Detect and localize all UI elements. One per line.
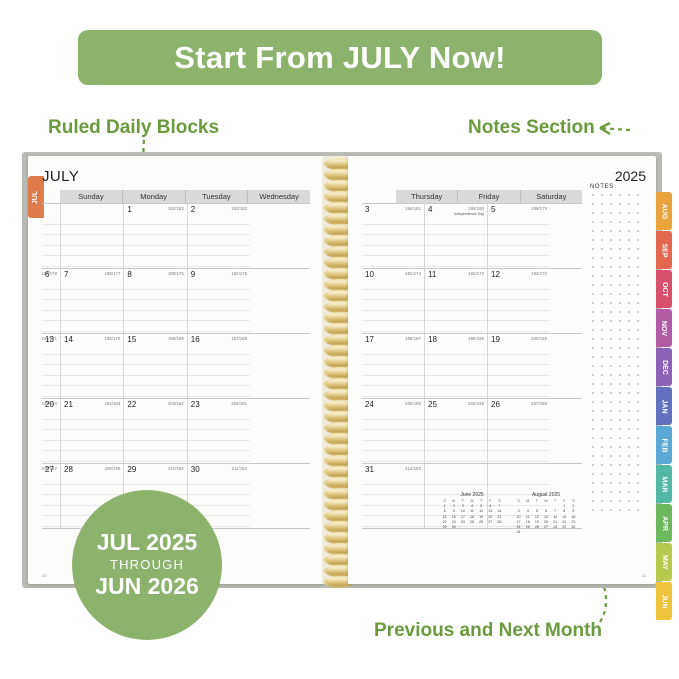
calendar-grid-right: 3184/1814185/180Independence Day5186/179… <box>362 203 582 529</box>
arrow-to-notes-icon <box>592 118 632 138</box>
day-number: 15 <box>127 335 136 344</box>
weekday-monday: Monday <box>123 190 186 203</box>
month-tab-label: MAY <box>660 555 667 570</box>
day-number: 31 <box>365 465 374 474</box>
julian-date: 203/162 <box>168 401 184 406</box>
calendar-week-row: 3184/1814185/180Independence Day5186/179 <box>362 203 582 269</box>
calendar-grid-left: 1182/1832183/1826187/1787188/1778189/176… <box>42 203 310 529</box>
day-number: 17 <box>365 335 374 344</box>
julian-date: 202/163 <box>105 401 121 406</box>
month-tab-label: JAN <box>660 399 667 413</box>
promo-banner-text: Start From JULY Now! <box>174 40 506 76</box>
calendar-day-cell[interactable]: 9190/175 <box>188 269 250 333</box>
left-page-header: JULY <box>42 168 314 188</box>
day-number: 22 <box>127 400 136 409</box>
day-number: 26 <box>491 400 500 409</box>
weekday-wednesday: Wednesday <box>248 190 310 203</box>
ruled-lines <box>42 214 60 268</box>
calendar-day-cell[interactable]: 7188/177 <box>61 269 124 333</box>
day-number: 21 <box>64 400 73 409</box>
ruled-lines <box>124 344 186 398</box>
weekday-saturday: Saturday <box>521 190 582 203</box>
mini-day[interactable] <box>486 524 495 529</box>
day-number: 12 <box>491 270 500 279</box>
day-number: 16 <box>191 335 200 344</box>
calendar-week-row: 6187/1787188/1778189/1769190/175 <box>42 269 310 334</box>
mini-day[interactable] <box>467 524 476 529</box>
weekday-sunday: Sunday <box>60 190 123 203</box>
ruled-lines <box>188 214 250 268</box>
calendar-day-cell[interactable]: 18199/166 <box>425 334 488 398</box>
julian-date: 196/169 <box>168 336 184 341</box>
calendar-day-cell[interactable]: 5186/179 <box>488 204 550 268</box>
weekday-header-left: SundayMondayTuesdayWednesday <box>60 190 310 203</box>
page-title: JULY <box>42 168 314 185</box>
mini-day[interactable] <box>560 529 569 534</box>
julian-date: 201/164 <box>42 401 57 406</box>
promo-banner: Start From JULY Now! <box>78 30 602 85</box>
ruled-lines <box>42 344 60 398</box>
badge-line-3: JUN 2026 <box>95 574 199 600</box>
day-number: 14 <box>64 335 73 344</box>
day-number: 3 <box>365 205 369 214</box>
month-tab-dec[interactable]: DEC <box>656 348 672 386</box>
month-tab-nov[interactable]: NOV <box>656 309 672 347</box>
badge-line-2: THROUGH <box>110 558 184 573</box>
month-tab-sep[interactable]: SEP <box>656 231 672 269</box>
day-number: 5 <box>491 205 495 214</box>
annotation-notes-section: Notes Section <box>468 117 595 139</box>
ruled-lines <box>42 409 60 463</box>
calendar-week-row: 17198/16718199/16619200/165 <box>362 334 582 399</box>
mini-day[interactable] <box>551 529 560 534</box>
date-range-badge: JUL 2025 THROUGH JUN 2026 <box>72 490 222 640</box>
ruled-lines <box>124 214 186 268</box>
month-tab-mar[interactable]: MAR <box>656 465 672 503</box>
ruled-lines <box>61 344 123 398</box>
calendar-day-cell[interactable]: 24205/160 <box>362 399 425 463</box>
ruled-lines <box>362 344 424 398</box>
page-number-right: 11 <box>642 573 646 578</box>
ruled-lines <box>488 344 550 398</box>
page-year: 2025 <box>615 168 646 184</box>
julian-date: 206/159 <box>468 401 484 406</box>
day-number: 4 <box>428 205 432 214</box>
julian-date: 194/171 <box>42 336 57 341</box>
notes-label: NOTES <box>590 184 642 190</box>
weekday-header-right: ThursdayFridaySaturday <box>396 190 582 203</box>
calendar-day-cell[interactable]: 3184/181 <box>362 204 425 268</box>
weekday-friday: Friday <box>458 190 520 203</box>
julian-date: 204/161 <box>231 401 247 406</box>
day-number: 29 <box>127 465 136 474</box>
month-tab-apr[interactable]: APR <box>656 504 672 542</box>
calendar-day-cell[interactable]: 17198/167 <box>362 334 425 398</box>
calendar-week-row: 20201/16421202/16322203/16223204/161 <box>42 399 310 464</box>
ruled-lines <box>488 409 550 463</box>
month-tab-label: FEB <box>661 438 668 452</box>
ruled-lines <box>61 409 123 463</box>
julian-date: 195/170 <box>105 336 121 341</box>
day-number: 24 <box>365 400 374 409</box>
calendar-day-cell[interactable]: 10191/174 <box>362 269 425 333</box>
weekday-thursday: Thursday <box>396 190 458 203</box>
julian-date: 208/157 <box>42 466 57 471</box>
calendar-week-row: 1182/1832183/182 <box>42 203 310 269</box>
julian-date: 193/172 <box>531 271 547 276</box>
ruled-lines <box>488 279 550 333</box>
month-tab-jan[interactable]: JAN <box>656 387 672 425</box>
ruled-lines <box>124 409 186 463</box>
calendar-day-cell[interactable]: 1182/183 <box>124 204 187 268</box>
mini-month-title: June 2025 <box>440 492 504 498</box>
calendar-day-cell[interactable]: 4185/180Independence Day <box>425 204 488 268</box>
julian-date: 199/166 <box>468 336 484 341</box>
mini-day[interactable] <box>495 524 504 529</box>
badge-line-1: JUL 2025 <box>97 530 198 556</box>
mini-day[interactable] <box>569 529 578 534</box>
day-number: 19 <box>491 335 500 344</box>
month-tab-label: DEC <box>661 360 668 375</box>
julian-date: 191/174 <box>405 271 421 276</box>
julian-date: 185/180 <box>468 206 484 211</box>
julian-date: 192/173 <box>468 271 484 276</box>
calendar-day-cell[interactable]: 8189/176 <box>124 269 187 333</box>
mini-month-title: August 2025 <box>514 492 578 498</box>
day-number: 8 <box>127 270 131 279</box>
julian-date: 186/179 <box>531 206 547 211</box>
julian-date: 189/176 <box>168 271 184 276</box>
calendar-day-cell[interactable]: 16197/168 <box>188 334 250 398</box>
ruled-lines <box>188 409 250 463</box>
ruled-lines <box>188 279 250 333</box>
day-number: 28 <box>64 465 73 474</box>
mini-day[interactable] <box>458 524 467 529</box>
julian-date: 188/177 <box>105 271 121 276</box>
ruled-lines <box>61 214 123 268</box>
calendar-day-cell[interactable]: 21202/163 <box>61 399 124 463</box>
month-tabs-right[interactable]: AUGSEPOCTNOVDECJANFEBMARAPRMAYJUN <box>656 192 672 621</box>
day-number: 11 <box>428 270 436 279</box>
mini-day[interactable] <box>532 529 541 534</box>
ruled-lines <box>425 279 487 333</box>
julian-date: 205/160 <box>405 401 421 406</box>
julian-date: 200/165 <box>531 336 547 341</box>
julian-date: 207/158 <box>531 401 547 406</box>
calendar-day-cell[interactable]: 20201/164 <box>42 399 61 463</box>
month-tab-jun[interactable]: JUN <box>656 582 672 620</box>
day-number: 7 <box>64 270 68 279</box>
month-tab-aug[interactable]: AUG <box>656 192 672 230</box>
ruled-lines <box>124 279 186 333</box>
day-number: 18 <box>428 335 437 344</box>
calendar-day-cell[interactable] <box>42 204 61 268</box>
calendar-day-cell[interactable] <box>61 204 124 268</box>
mini-month-table: SMTWTFS123456789101112131415161718192021… <box>440 499 504 529</box>
mini-day[interactable]: 30 <box>449 524 458 529</box>
calendar-day-cell[interactable]: 22203/162 <box>124 399 187 463</box>
mini-day[interactable]: 31 <box>514 529 523 534</box>
calendar-day-cell[interactable]: 11192/173 <box>425 269 488 333</box>
ruled-lines <box>362 279 424 333</box>
julian-date: 183/182 <box>231 206 247 211</box>
day-number: 2 <box>191 205 195 214</box>
month-tab-label: OCT <box>661 282 668 297</box>
mini-day[interactable]: 29 <box>440 524 449 529</box>
month-tab-label: AUG <box>661 203 668 219</box>
julian-date: 182/183 <box>168 206 184 211</box>
mini-month-previous: June 2025SMTWTFS123456789101112131415161… <box>440 492 504 529</box>
julian-date: 190/175 <box>231 271 247 276</box>
calendar-day-cell[interactable]: 25206/159 <box>425 399 488 463</box>
calendar-day-cell[interactable]: 19200/165 <box>488 334 550 398</box>
mini-day[interactable] <box>523 529 532 534</box>
ruled-lines <box>362 409 424 463</box>
calendar-day-cell[interactable]: 13194/171 <box>42 334 61 398</box>
ruled-lines <box>425 214 487 268</box>
mini-day[interactable] <box>541 529 550 534</box>
ruled-lines <box>488 214 550 268</box>
calendar-day-cell[interactable]: 12193/172 <box>488 269 550 333</box>
month-tab-label: JUN <box>660 594 667 608</box>
julian-date: 184/181 <box>405 206 421 211</box>
julian-date: 209/156 <box>105 466 121 471</box>
mini-day[interactable] <box>477 524 486 529</box>
ruled-lines <box>61 279 123 333</box>
month-tab-label: MAR <box>660 476 667 492</box>
month-tab-label: APR <box>661 516 668 531</box>
month-tab-may[interactable]: MAY <box>656 543 672 581</box>
ruled-lines <box>362 474 424 528</box>
ruled-lines <box>42 279 60 333</box>
mini-month-next: August 2025SMTWTFS1234567891011121314151… <box>514 492 578 535</box>
day-number: 25 <box>428 400 437 409</box>
page-number-left: 10 <box>42 573 46 578</box>
ruled-lines <box>188 344 250 398</box>
ruled-lines <box>425 344 487 398</box>
notes-dot-grid <box>590 194 642 514</box>
ruled-lines <box>42 474 60 528</box>
ruled-lines <box>425 409 487 463</box>
calendar-day-cell[interactable]: 31212/153 <box>362 464 425 528</box>
day-number: 1 <box>127 205 131 214</box>
calendar-day-cell[interactable]: 6187/178 <box>42 269 61 333</box>
mini-month-table: SMTWTFS123456789101112131415161718192021… <box>514 499 578 535</box>
planner-right-page: 2025 ThursdayFridaySaturday 3184/1814185… <box>348 156 656 584</box>
month-tab-feb[interactable]: FEB <box>656 426 672 464</box>
notes-section[interactable]: NOTES <box>590 184 642 564</box>
month-tab-label: SEP <box>660 243 667 257</box>
day-number: 10 <box>365 270 374 279</box>
calendar-day-cell[interactable]: 14195/170 <box>61 334 124 398</box>
calendar-day-cell[interactable]: 2183/182 <box>188 204 250 268</box>
julian-date: 210/155 <box>168 466 184 471</box>
calendar-day-cell[interactable]: 27208/157 <box>42 464 61 528</box>
ruled-lines <box>362 214 424 268</box>
julian-date: 187/178 <box>42 271 57 276</box>
month-tab-oct[interactable]: OCT <box>656 270 672 308</box>
julian-date: 211/154 <box>232 466 248 471</box>
julian-date: 198/167 <box>405 336 421 341</box>
calendar-day-cell[interactable]: 15196/169 <box>124 334 187 398</box>
calendar-day-cell[interactable]: 26207/158 <box>488 399 550 463</box>
calendar-week-row: 10191/17411192/17312193/172 <box>362 269 582 334</box>
month-tab-jul-label: JUL <box>32 190 39 203</box>
julian-date: 212/153 <box>405 466 421 471</box>
month-tab-label: NOV <box>660 320 667 335</box>
day-number: 9 <box>191 270 195 279</box>
julian-date: 197/168 <box>231 336 247 341</box>
calendar-week-row: 24205/16025206/15926207/158 <box>362 399 582 464</box>
day-number: 30 <box>191 465 200 474</box>
day-number: 23 <box>191 400 200 409</box>
weekday-tuesday: Tuesday <box>186 190 249 203</box>
calendar-day-cell[interactable]: 23204/161 <box>188 399 250 463</box>
calendar-week-row: 13194/17114195/17015196/16916197/168 <box>42 334 310 399</box>
